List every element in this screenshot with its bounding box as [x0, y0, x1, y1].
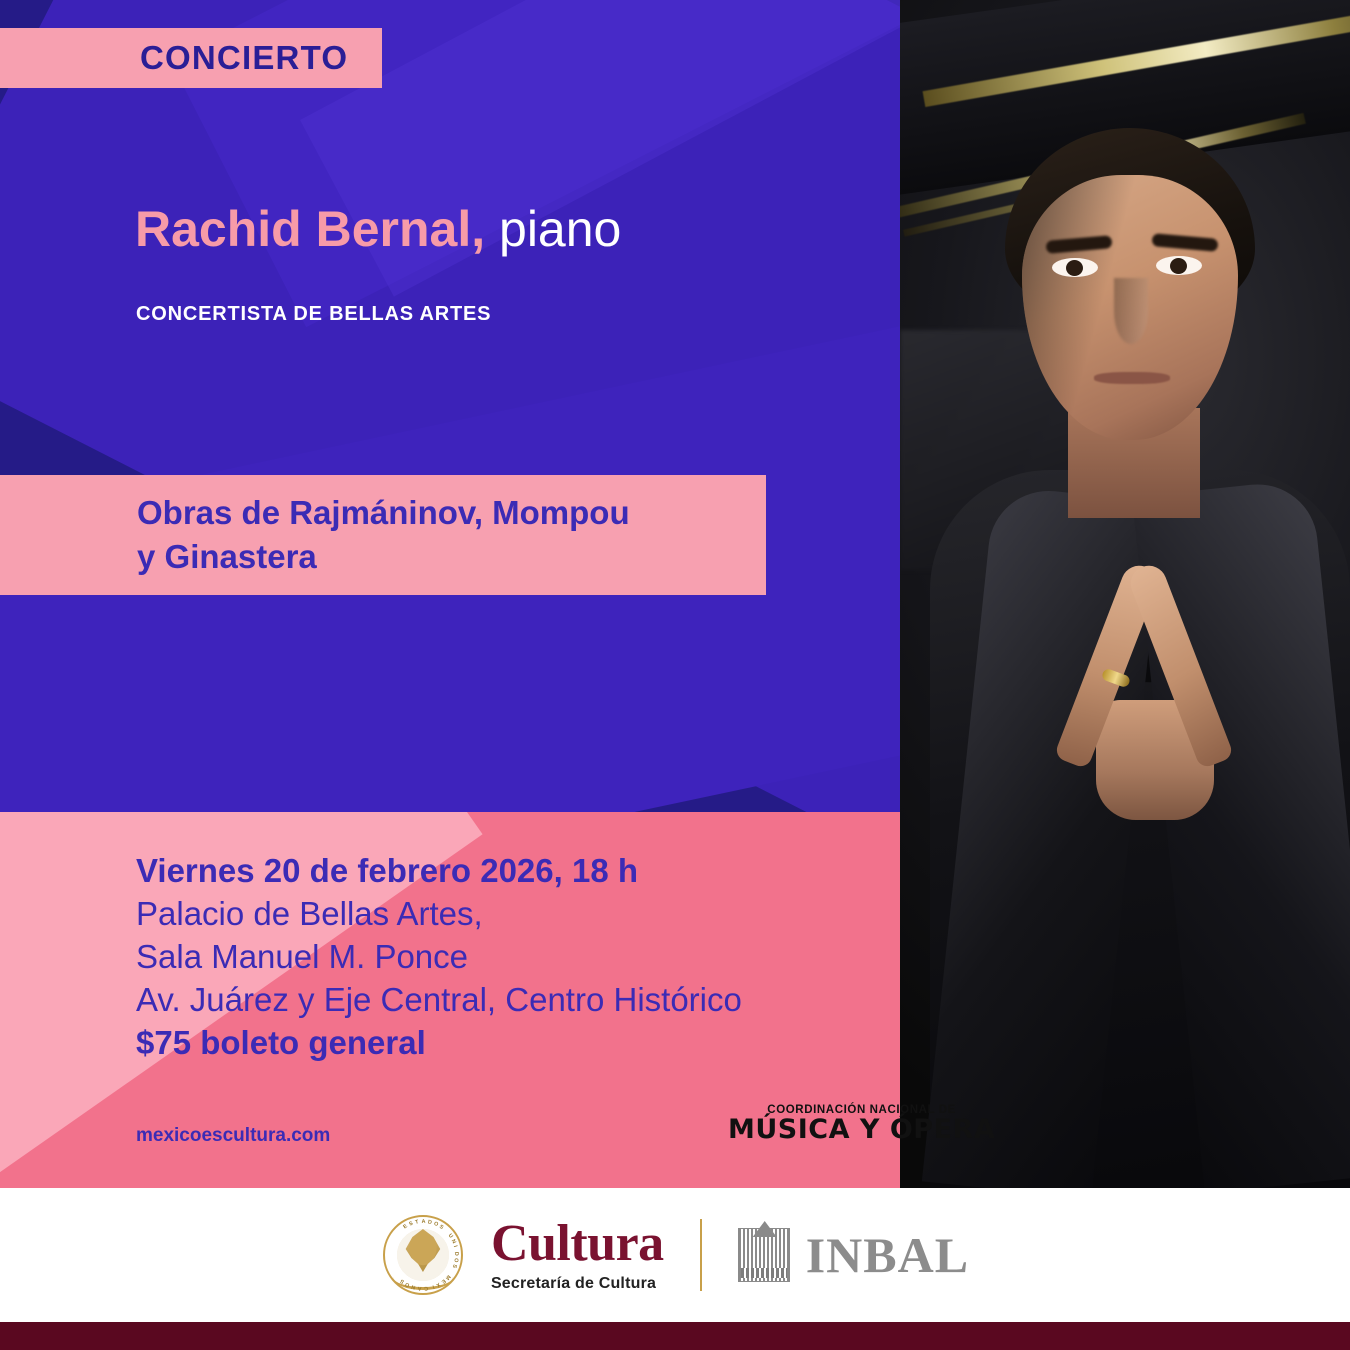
mouth — [1094, 372, 1170, 384]
institutional-footer: ESTADOS UNIDOS MEXICANOS Cultura Secreta… — [0, 1188, 1350, 1322]
pupil-right — [1170, 258, 1187, 274]
event-details: Viernes 20 de febrero 2026, 18 h Palacio… — [136, 850, 742, 1064]
cultura-logo: Cultura Secretaría de Cultura — [491, 1218, 664, 1293]
venue-address: Av. Juárez y Eje Central, Centro Históri… — [136, 979, 742, 1022]
eye-right — [1156, 256, 1202, 275]
mexican-coat-of-arms-icon: ESTADOS UNIDOS MEXICANOS — [381, 1213, 465, 1297]
artist-instrument-text: piano — [499, 201, 621, 257]
musica-y-opera-main-line: MÚSICA Y ÓPERA — [728, 1116, 995, 1144]
bottom-accent-bar — [0, 1322, 1350, 1350]
category-badge-label: CONCIERTO — [140, 39, 348, 77]
nose — [1114, 278, 1148, 344]
eye-left — [1052, 258, 1098, 277]
poster-artwork: CONCIERTO Rachid Bernal, piano CONCERTIS… — [0, 0, 1350, 1188]
website-link[interactable]: mexicoescultura.com — [136, 1125, 330, 1147]
artist-name-heading: Rachid Bernal, piano — [135, 204, 621, 254]
concert-poster: CONCIERTO Rachid Bernal, piano CONCERTIS… — [0, 0, 1350, 1350]
inbal-logo: INBAL — [738, 1228, 969, 1282]
category-badge: CONCIERTO — [0, 28, 382, 88]
inbal-wordmark: INBAL — [806, 1230, 969, 1280]
artist-photograph — [900, 0, 1350, 1188]
cultura-subtitle: Secretaría de Cultura — [491, 1275, 664, 1293]
program-text: Obras de Rajmáninov, Mompou y Ginastera — [137, 491, 630, 578]
cultura-wordmark: Cultura — [491, 1218, 664, 1270]
palacio-building-icon — [738, 1228, 790, 1282]
program-line-2: y Ginastera — [137, 538, 317, 575]
musica-y-opera-logo: COORDINACIÓN NACIONAL DE MÚSICA Y ÓPERA — [728, 1104, 995, 1144]
event-date: Viernes 20 de febrero 2026, 18 h — [136, 850, 742, 893]
artist-subtitle: CONCERTISTA DE BELLAS ARTES — [136, 303, 491, 326]
venue-line-1: Palacio de Bellas Artes, — [136, 893, 742, 936]
venue-line-2: Sala Manuel M. Ponce — [136, 936, 742, 979]
blue-background-panel — [0, 0, 900, 812]
pupil-left — [1066, 260, 1083, 276]
artist-name-text: Rachid Bernal, — [135, 201, 485, 257]
program-box: Obras de Rajmáninov, Mompou y Ginastera — [0, 475, 766, 595]
ticket-price: $75 boleto general — [136, 1022, 742, 1065]
program-line-1: Obras de Rajmáninov, Mompou — [137, 494, 630, 531]
emblem-circular-text: ESTADOS UNIDOS MEXICANOS — [381, 1213, 465, 1297]
footer-divider — [700, 1219, 702, 1291]
pianist-figure — [900, 0, 1350, 1188]
